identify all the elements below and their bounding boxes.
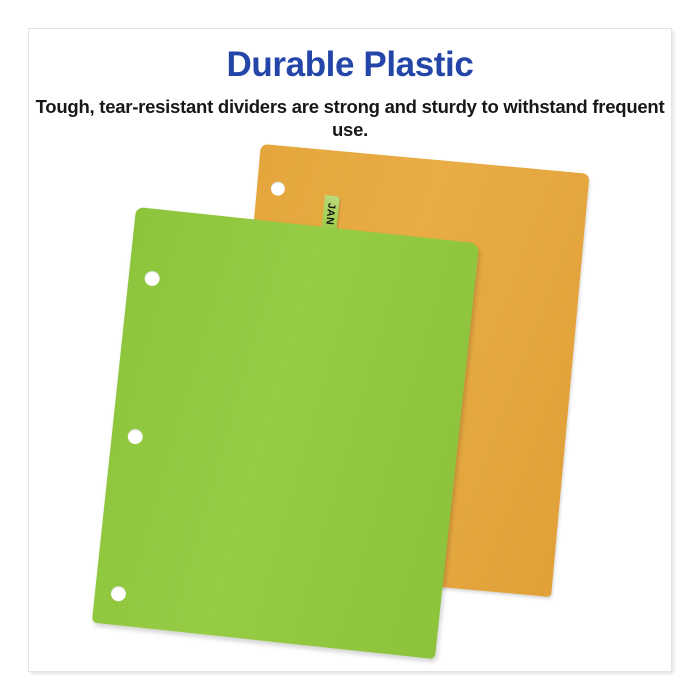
punch-hole-icon (110, 585, 127, 602)
product-image-card: Durable Plastic Tough, tear-resistant di… (0, 0, 700, 700)
punch-hole-icon (127, 428, 144, 445)
tab-label: JAN (324, 202, 337, 225)
page-subtitle: Tough, tear-resistant dividers are stron… (28, 95, 672, 142)
heading-block: Durable Plastic Tough, tear-resistant di… (28, 46, 672, 142)
green-divider-sheet (92, 207, 479, 659)
punch-hole-icon (144, 270, 161, 287)
product-photo: APR MAY JUN JUL AUG SEP OCT NOV DEC JAN … (29, 140, 671, 670)
punch-hole-icon (270, 181, 285, 196)
page-title: Durable Plastic (28, 46, 672, 85)
